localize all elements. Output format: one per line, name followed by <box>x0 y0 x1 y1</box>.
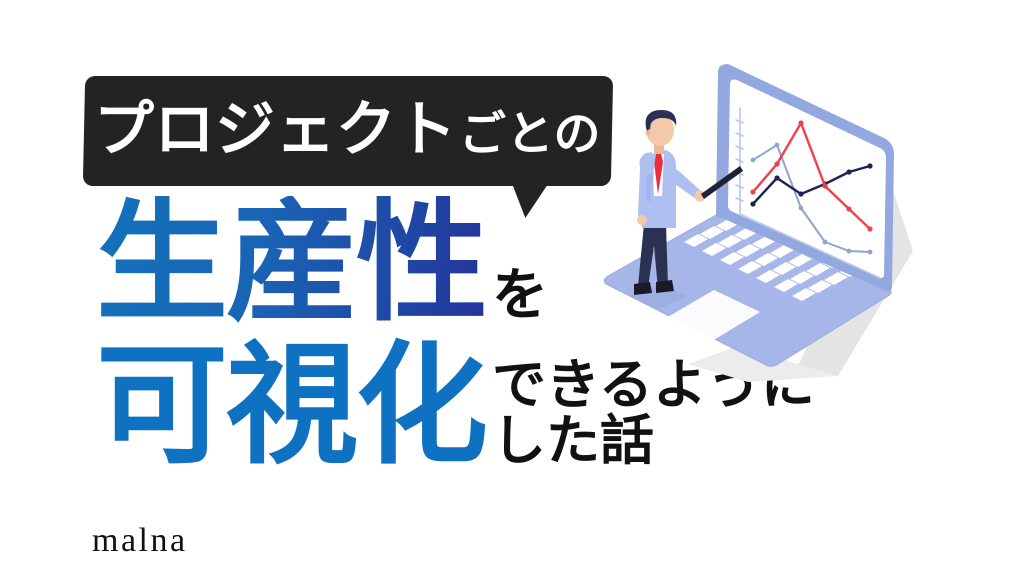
slide-canvas: プロジェクト ごとの 生産性 を 可視化 できるように した話 malna <box>0 0 1024 576</box>
speech-bubble-text: プロジェクト ごとの <box>94 100 601 162</box>
headline-particle-wo: を <box>492 267 548 331</box>
speech-bubble-body: プロジェクト ごとの <box>83 76 613 186</box>
laptop-presentation-illustration <box>588 46 928 386</box>
speech-bubble-main-text: プロジェクト <box>94 100 457 160</box>
brand-logo-malna: malna <box>92 524 188 558</box>
speech-bubble-sub-text: ごとの <box>459 110 601 157</box>
headline-emphasis-productivity: 生産性 <box>96 196 486 331</box>
speech-bubble: プロジェクト ごとの <box>84 76 612 186</box>
headline-emphasis-visualize: 可視化 <box>96 339 486 474</box>
